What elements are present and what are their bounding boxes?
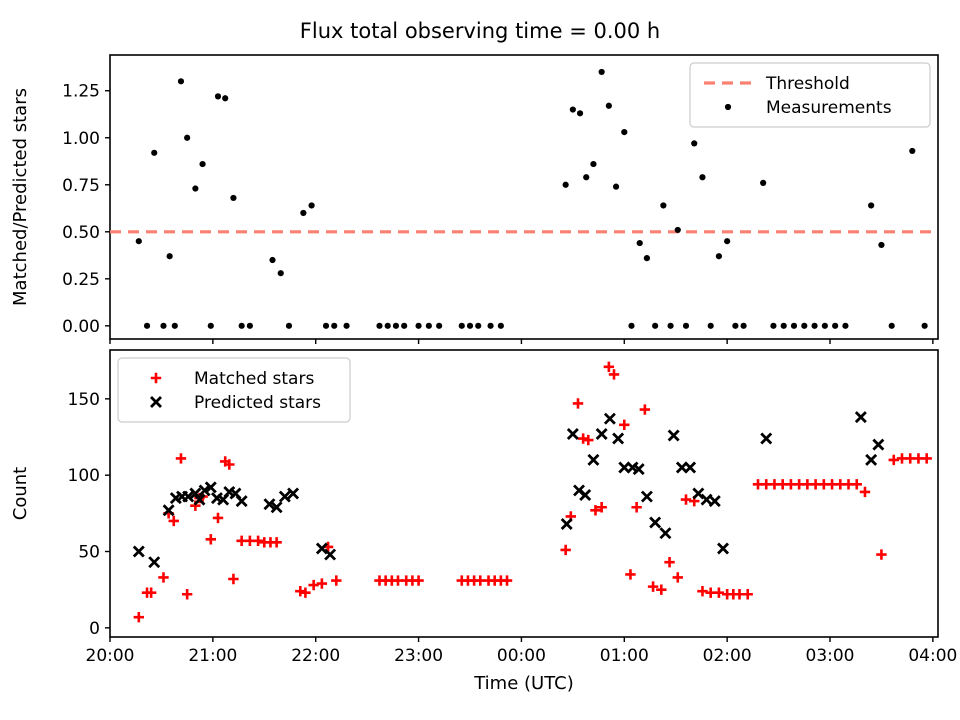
data-point (599, 69, 605, 75)
x-tick-label: 04:00 (908, 646, 957, 666)
data-point (426, 323, 432, 329)
data-point (628, 323, 634, 329)
x-tick-label: 02:00 (703, 646, 752, 666)
data-point (801, 323, 807, 329)
data-point (691, 140, 697, 146)
data-point (475, 323, 481, 329)
data-point (184, 135, 190, 141)
data-point (842, 323, 848, 329)
x-tick-label: 00:00 (497, 646, 546, 666)
data-point (300, 210, 306, 216)
data-point (385, 323, 391, 329)
data-point (570, 106, 576, 112)
figure-container: Flux total observing time = 0.00 h 0.000… (0, 0, 960, 720)
data-point (577, 110, 583, 116)
data-point (922, 323, 928, 329)
y-axis-label: Count (10, 467, 31, 520)
data-point (791, 323, 797, 329)
data-point (215, 93, 221, 99)
data-point (741, 323, 747, 329)
data-point (675, 227, 681, 233)
data-point (498, 323, 504, 329)
plot-canvas: Flux total observing time = 0.00 h 0.000… (0, 0, 960, 720)
data-point (151, 150, 157, 156)
data-point (167, 253, 173, 259)
data-point (637, 240, 643, 246)
data-point (343, 323, 349, 329)
x-axis-label: Time (UTC) (473, 673, 574, 694)
data-point (781, 323, 787, 329)
data-point (667, 323, 673, 329)
data-point (136, 238, 142, 244)
data-point (613, 184, 619, 190)
y-tick-label: 1.25 (62, 82, 100, 102)
y-tick-label: 0.25 (62, 270, 100, 290)
data-point (192, 185, 198, 191)
data-point (660, 202, 666, 208)
data-point (770, 323, 776, 329)
data-point (459, 323, 465, 329)
x-tick-label: 23:00 (394, 646, 443, 666)
data-point (160, 323, 166, 329)
data-point (606, 103, 612, 109)
data-point (436, 323, 442, 329)
legend-label: Predicted stars (194, 393, 321, 413)
data-point (644, 255, 650, 261)
data-point (732, 323, 738, 329)
data-point (415, 323, 421, 329)
data-point (376, 323, 382, 329)
data-point (393, 323, 399, 329)
data-point (878, 242, 884, 248)
data-point (487, 323, 493, 329)
data-point (811, 323, 817, 329)
data-point (563, 182, 569, 188)
data-point (230, 195, 236, 201)
y-tick-label: 100 (68, 466, 100, 486)
legend: ThresholdMeasurements (690, 63, 930, 127)
data-point (269, 257, 275, 263)
x-tick-label: 01:00 (600, 646, 649, 666)
x-tick-label: 20:00 (86, 646, 135, 666)
data-point (708, 323, 714, 329)
data-point (724, 238, 730, 244)
y-tick-label: 150 (68, 390, 100, 410)
data-point (889, 323, 895, 329)
legend-label: Matched stars (194, 369, 314, 389)
x-tick-label: 22:00 (291, 646, 340, 666)
y-tick-label: 1.00 (62, 129, 100, 149)
x-tick-label: 03:00 (806, 646, 855, 666)
data-point (199, 161, 205, 167)
data-point (331, 323, 337, 329)
y-tick-label: 0.00 (62, 317, 100, 337)
legend-marker-measurements (725, 104, 731, 110)
data-point (683, 323, 689, 329)
y-tick-label: 0 (89, 619, 100, 639)
data-point (401, 323, 407, 329)
data-point (583, 174, 589, 180)
x-tick-label: 21:00 (188, 646, 237, 666)
data-point (286, 323, 292, 329)
data-point (278, 270, 284, 276)
data-point (868, 202, 874, 208)
data-point (699, 174, 705, 180)
y-axis-label: Matched/Predicted stars (10, 88, 31, 306)
data-point (178, 78, 184, 84)
data-point (652, 323, 658, 329)
data-point (590, 161, 596, 167)
data-point (822, 323, 828, 329)
data-point (247, 323, 253, 329)
data-point (909, 148, 915, 154)
data-point (172, 323, 178, 329)
data-point (323, 323, 329, 329)
data-point (621, 129, 627, 135)
page-title: Flux total observing time = 0.00 h (300, 19, 660, 43)
data-point (239, 323, 245, 329)
data-point (208, 323, 214, 329)
data-point (144, 323, 150, 329)
data-point (832, 323, 838, 329)
y-tick-label: 0.50 (62, 223, 100, 243)
legend-label: Measurements (766, 98, 892, 118)
y-tick-label: 0.75 (62, 176, 100, 196)
data-point (467, 323, 473, 329)
data-point (222, 95, 228, 101)
y-tick-label: 50 (78, 543, 100, 563)
data-point (309, 202, 315, 208)
legend: Matched starsPredicted stars (118, 358, 350, 422)
legend-label: Threshold (765, 74, 850, 94)
data-point (760, 180, 766, 186)
data-point (716, 253, 722, 259)
